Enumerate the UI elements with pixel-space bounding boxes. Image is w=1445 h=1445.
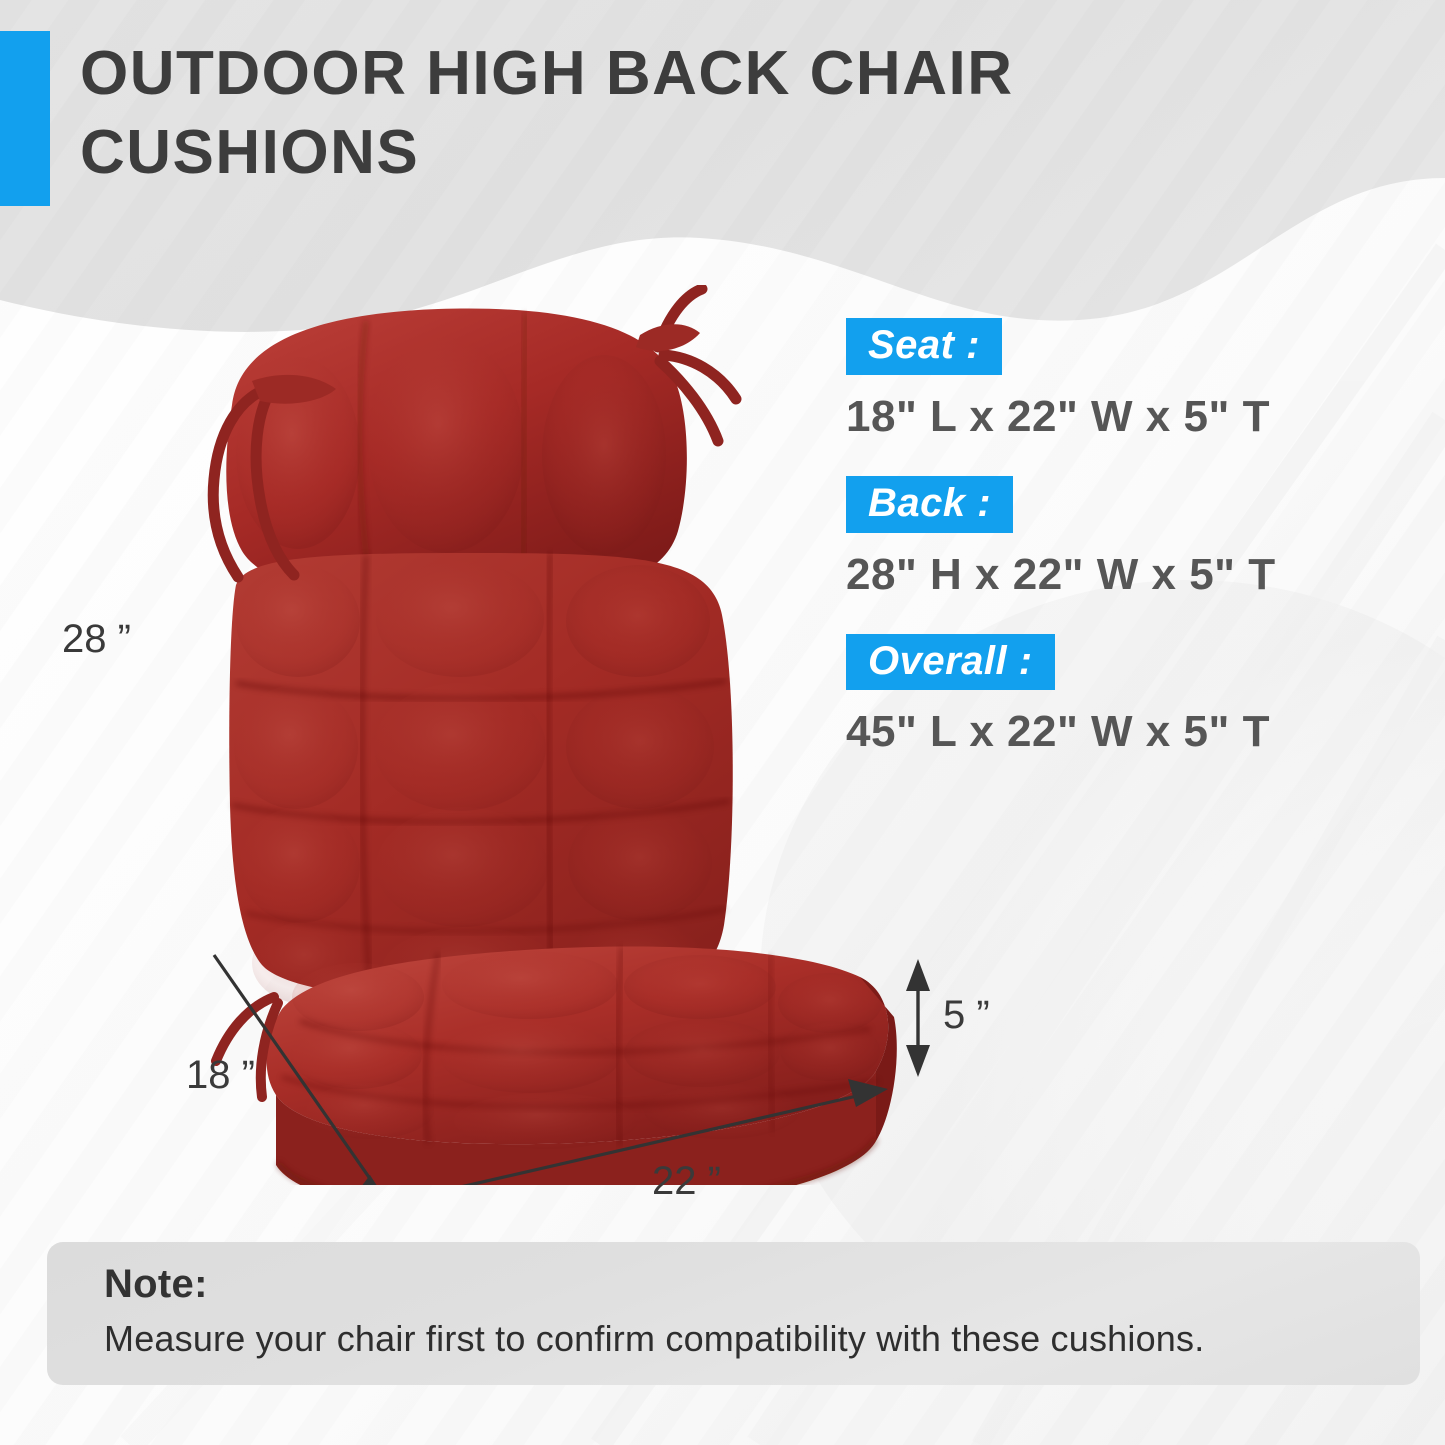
cushion-back-panel <box>229 553 733 1011</box>
spec-value-seat: 18" L x 22" W x 5" T <box>846 392 1386 442</box>
infographic-page: OUTDOOR HIGH BACK CHAIR CUSHIONS <box>0 0 1445 1445</box>
dimension-label-depth: 18 ” <box>186 1053 255 1098</box>
thickness-arrow-up <box>906 959 930 991</box>
spec-label-seat: Seat : <box>846 318 1002 375</box>
specifications-panel: Seat : 18" L x 22" W x 5" T Back : 28" H… <box>846 318 1386 757</box>
thickness-arrow-down <box>906 1045 930 1077</box>
product-illustration <box>170 285 930 1185</box>
page-title: OUTDOOR HIGH BACK CHAIR CUSHIONS <box>80 34 1260 193</box>
spec-group-back: Back : 28" H x 22" W x 5" T <box>846 476 1386 600</box>
product-image <box>170 285 930 1185</box>
note-title: Note: <box>104 1262 208 1307</box>
spec-value-back: 28" H x 22" W x 5" T <box>846 550 1386 600</box>
note-box: Note: Measure your chair first to confir… <box>47 1242 1420 1385</box>
cushion-tie-loop-right <box>636 324 700 351</box>
cushion-seat <box>267 947 897 1185</box>
spec-label-back: Back : <box>846 476 1013 533</box>
spec-label-overall: Overall : <box>846 634 1055 691</box>
spec-group-seat: Seat : 18" L x 22" W x 5" T <box>846 318 1386 442</box>
dimension-label-width: 22 ” <box>652 1159 721 1204</box>
spec-value-overall: 45" L x 22" W x 5" T <box>846 707 1386 757</box>
dimension-label-thickness: 5 ” <box>943 993 990 1038</box>
dimension-label-height: 28 ” <box>62 617 131 662</box>
spec-group-overall: Overall : 45" L x 22" W x 5" T <box>846 634 1386 758</box>
header-accent-bar <box>0 31 50 206</box>
note-body: Measure your chair first to confirm comp… <box>104 1318 1204 1360</box>
